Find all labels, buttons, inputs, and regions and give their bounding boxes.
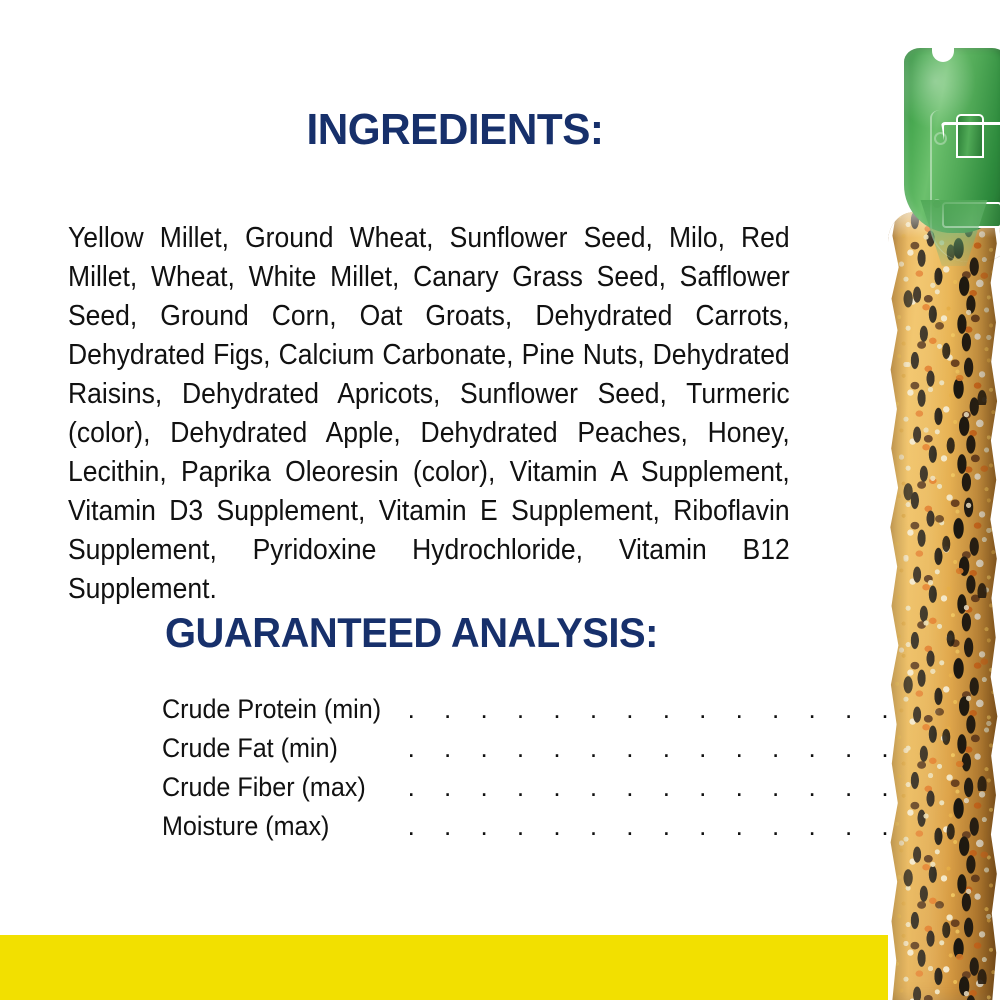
table-row: Crude Fat (min) . . . . . . . . . . . . … bbox=[162, 733, 1000, 772]
ingredients-heading: INGREDIENTS: bbox=[18, 108, 892, 152]
table-row: Crude Fiber (max) . . . . . . . . . . . … bbox=[162, 772, 1000, 811]
ingredients-body-text: Yellow Millet, Ground Wheat, Sunflower S… bbox=[68, 219, 790, 648]
table-row: Crude Protein (min) . . . . . . . . . . … bbox=[162, 694, 1000, 733]
guaranteed-analysis-table: Crude Protein (min) . . . . . . . . . . … bbox=[162, 694, 1000, 850]
analysis-label: Crude Fiber (max) bbox=[162, 772, 366, 803]
seed-texture-layer-2 bbox=[888, 212, 1000, 1000]
product-photo-seed-stick bbox=[888, 0, 1000, 1000]
table-row: Moisture (max) . . . . . . . . . . . . .… bbox=[162, 811, 1000, 850]
clip-pin-left bbox=[934, 132, 947, 145]
analysis-label-cell: Crude Fat (min) bbox=[162, 733, 398, 772]
analysis-label-cell: Crude Fiber (max) bbox=[162, 772, 398, 811]
nutrition-panel: INGREDIENTS: Yellow Millet, Ground Wheat… bbox=[0, 0, 1000, 1000]
analysis-label-cell: Moisture (max) bbox=[162, 811, 398, 850]
analysis-label: Moisture (max) bbox=[162, 811, 329, 842]
guaranteed-analysis-heading: GUARANTEED ANALYSIS: bbox=[165, 612, 658, 654]
label-text-column: INGREDIENTS: Yellow Millet, Ground Wheat… bbox=[0, 0, 860, 1000]
seed-stick-body bbox=[888, 212, 1000, 1000]
analysis-label: Crude Fat (min) bbox=[162, 733, 338, 764]
analysis-label: Crude Protein (min) bbox=[162, 694, 381, 725]
analysis-label-cell: Crude Protein (min) bbox=[162, 694, 398, 733]
